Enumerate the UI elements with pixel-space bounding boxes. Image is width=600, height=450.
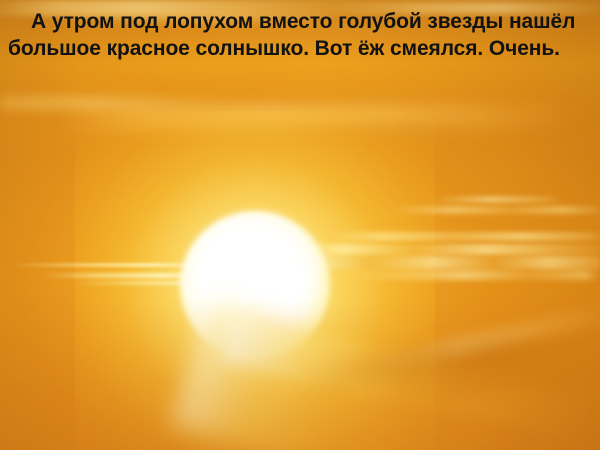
caption-text: А утром под лопухом вместо голубой звезд… [0, 0, 600, 68]
slide-canvas: А утром под лопухом вместо голубой звезд… [0, 0, 600, 450]
